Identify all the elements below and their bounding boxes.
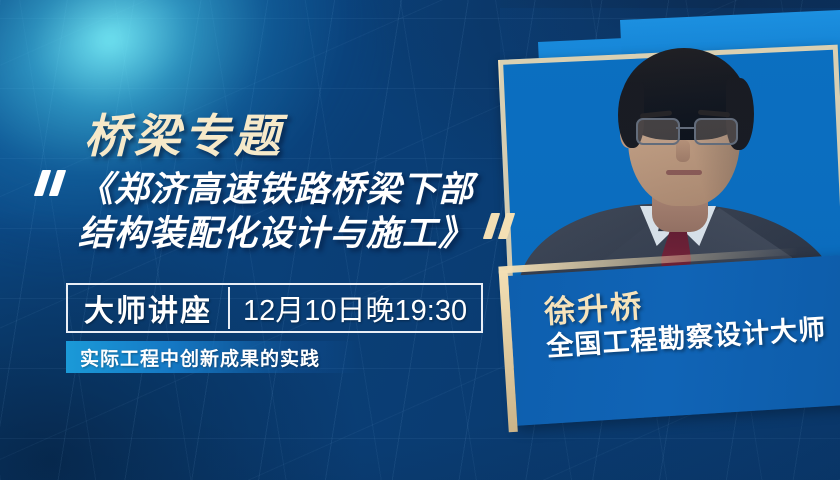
lecture-poster: 徐升桥 全国工程勘察设计大师 桥梁专题 《郑济高速铁路桥梁下部 结构装配化设计与…: [0, 0, 840, 480]
poster-subtitle: 实际工程中创新成果的实践: [66, 344, 320, 371]
glasses-lens-left: [636, 118, 680, 145]
lecture-tag-label: 大师讲座: [68, 286, 228, 330]
lecture-date-time: 12月10日晚19:30: [230, 287, 481, 329]
quote-open-icon: [38, 170, 72, 200]
poster-kicker: 桥梁专题: [84, 100, 284, 166]
poster-title-line-2: 结构装配化设计与施工》: [78, 212, 508, 256]
glasses-icon: [634, 118, 738, 142]
lecture-info-box: 大师讲座 12月10日晚19:30: [66, 283, 483, 333]
portrait-nose: [676, 140, 690, 162]
poster-title-line-1: 《郑济高速铁路桥梁下部: [78, 168, 508, 212]
glasses-lens-right: [694, 118, 738, 145]
portrait-mouth: [666, 170, 702, 175]
poster-subtitle-bar: 实际工程中创新成果的实践: [66, 341, 360, 373]
glasses-bridge: [676, 127, 694, 129]
poster-title: 《郑济高速铁路桥梁下部 结构装配化设计与施工》: [78, 168, 508, 256]
speaker-name-panel: 徐升桥 全国工程勘察设计大师: [508, 251, 840, 426]
